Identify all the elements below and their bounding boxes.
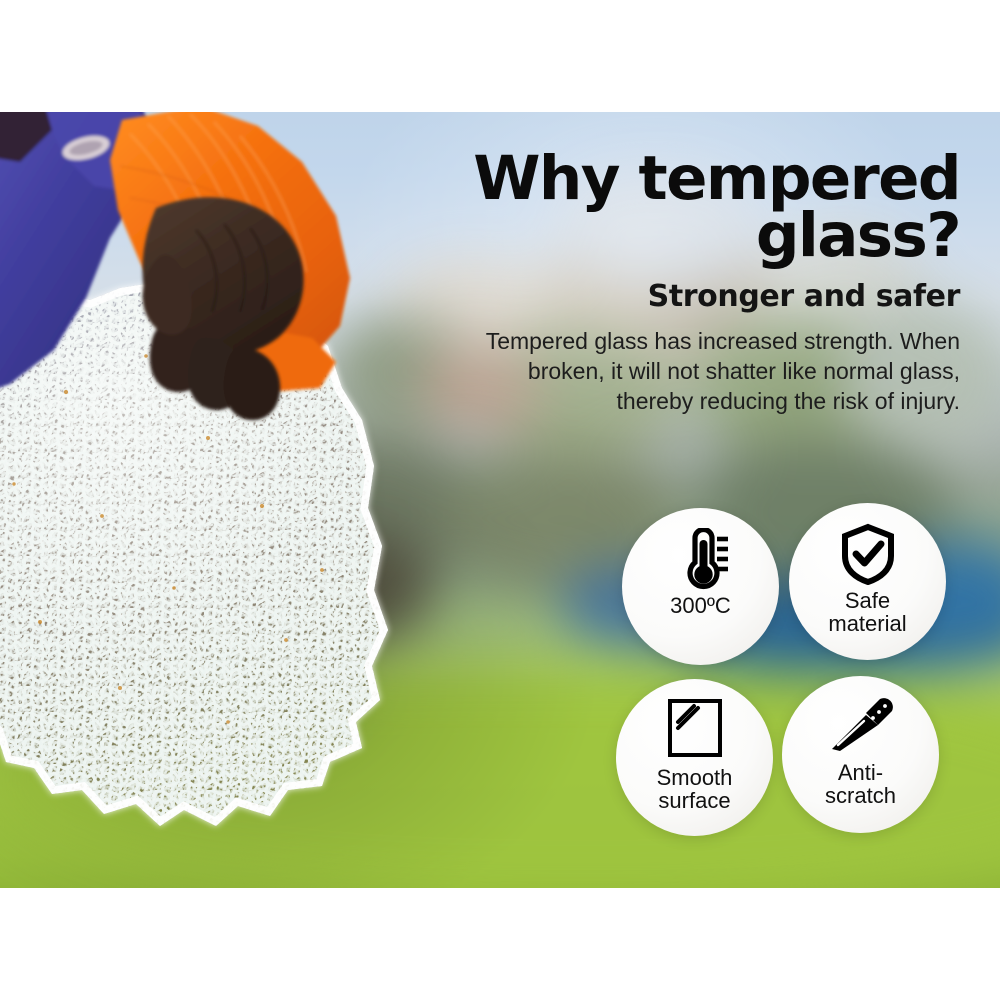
badge-caption-line-1: Anti- xyxy=(838,760,883,785)
badge-caption-line-1: Safe xyxy=(845,588,890,613)
badge-caption: Anti- scratch xyxy=(825,761,896,808)
copy-block: Why tempered glass? Stronger and safer T… xyxy=(470,150,960,417)
badge-anti-scratch: Anti- scratch xyxy=(782,676,939,833)
badge-caption: 300ºC xyxy=(670,594,731,617)
badge-caption-line-2: material xyxy=(828,611,906,636)
badge-caption-line-2: scratch xyxy=(825,783,896,808)
page-title: Why tempered glass? xyxy=(470,150,960,265)
knife-icon xyxy=(826,691,896,757)
shield-check-icon xyxy=(839,523,897,585)
badge-caption: Safe material xyxy=(828,589,906,636)
badge-smooth-surface: Smooth surface xyxy=(616,679,773,836)
worker-arm-with-glove xyxy=(0,112,420,442)
subheadline: Stronger and safer xyxy=(470,279,960,314)
product-marketing-image: Why tempered glass? Stronger and safer T… xyxy=(0,0,1000,1000)
headline-line-2: glass? xyxy=(756,200,960,271)
badge-caption-line-1: 300ºC xyxy=(670,593,731,618)
badge-caption-line-2: surface xyxy=(658,788,730,813)
badge-temperature: 300ºC xyxy=(622,508,779,665)
badge-caption-line-1: Smooth xyxy=(657,765,733,790)
body-copy: Tempered glass has increased strength. W… xyxy=(470,326,960,417)
glass-pane-icon xyxy=(664,696,726,762)
thermometer-icon xyxy=(673,528,729,590)
badge-safe-material: Safe material xyxy=(789,503,946,660)
badge-caption: Smooth surface xyxy=(657,766,733,813)
